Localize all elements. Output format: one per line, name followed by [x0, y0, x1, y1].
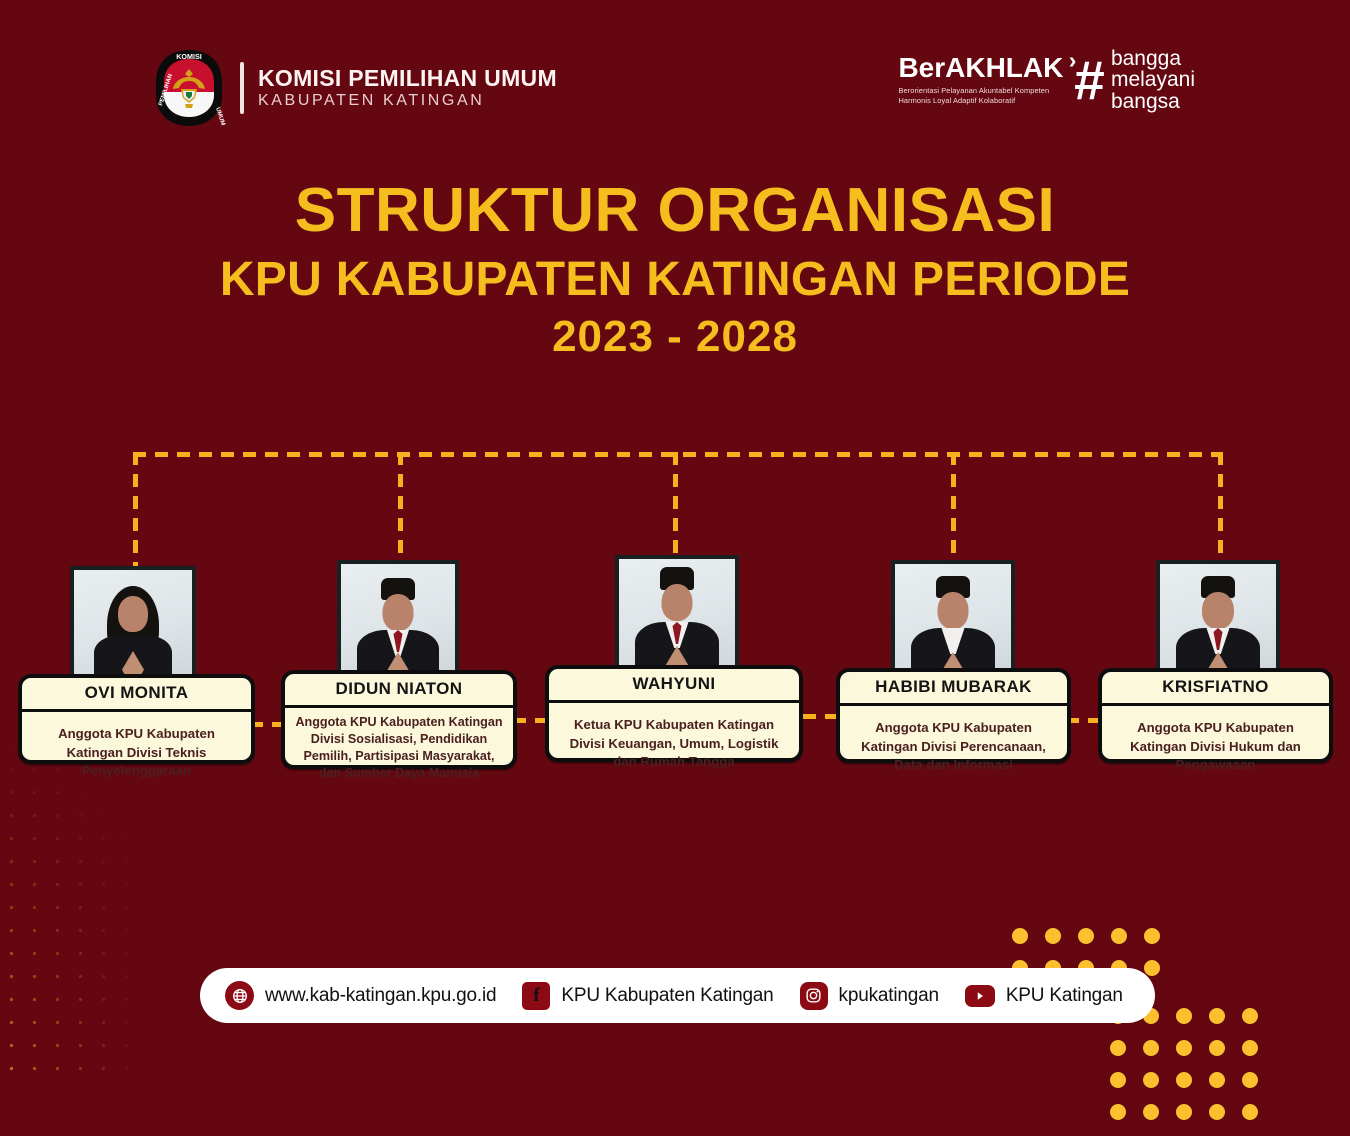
page-title: STRUKTUR ORGANISASI KPU KABUPATEN KATING… — [0, 178, 1350, 363]
member-name-4: HABIBI MUBARAK — [840, 672, 1067, 706]
berakhlak-subtitle: Berorientasi Pelayanan Akuntabel Kompete… — [898, 86, 1063, 106]
instagram-icon — [800, 982, 828, 1010]
footer-website[interactable]: www.kab-katingan.kpu.go.id — [225, 981, 496, 1010]
tagline-line2: melayani — [1111, 69, 1195, 90]
footer-website-label: www.kab-katingan.kpu.go.id — [265, 985, 496, 1007]
member-portrait-2 — [341, 564, 455, 686]
header-divider — [240, 62, 244, 114]
member-card-4[interactable]: HABIBI MUBARAK Anggota KPU Kabupaten Kat… — [836, 668, 1071, 763]
org-name: KOMISI PEMILIHAN UMUM — [258, 67, 557, 90]
footer-instagram[interactable]: kpukatingan — [800, 982, 939, 1010]
hashtag-icon: # — [1073, 57, 1101, 104]
footer-youtube-label: KPU Katingan — [1006, 985, 1123, 1007]
tagline-line3: bangsa — [1111, 91, 1195, 112]
berakhlak-wordmark: BerAKHLAK› — [898, 54, 1063, 82]
member-desc-1: Anggota KPU Kabupaten Katingan Divisi Te… — [22, 712, 251, 794]
member-card-3[interactable]: WAHYUNI Ketua KPU Kabupaten Katingan Div… — [545, 665, 803, 762]
member-desc-5: Anggota KPU Kabupaten Katingan Divisi Hu… — [1102, 706, 1329, 788]
svg-text:UMUM: UMUM — [214, 107, 225, 127]
kpu-logo-icon: KOMISI PEMILIHAN UMUM — [152, 48, 226, 128]
dot-grid-decoration-lower-right — [1110, 1008, 1275, 1136]
member-name-2: DIDUN NIATON — [285, 674, 513, 708]
connector-vertical-3 — [673, 452, 678, 555]
footer-youtube[interactable]: KPU Katingan — [965, 985, 1123, 1007]
berakhlak-sub-line2: Harmonis Loyal Adaptif Kolaboratif — [898, 96, 1063, 106]
footer-facebook-label: KPU Kabupaten Katingan — [561, 985, 773, 1007]
berakhlak-sub-line1: Berorientasi Pelayanan Akuntabel Kompete… — [898, 86, 1063, 96]
connector-vertical-1 — [133, 452, 138, 567]
berakhlak-text-group: BerAKHLAK› Berorientasi Pelayanan Akunta… — [898, 54, 1063, 106]
kpu-title-group: KOMISI PEMILIHAN UMUM KABUPATEN KATINGAN — [258, 67, 557, 109]
member-portrait-1 — [74, 570, 192, 687]
connector-between-card-3-4 — [803, 714, 838, 719]
member-name-3: WAHYUNI — [549, 669, 799, 703]
connector-vertical-5 — [1218, 452, 1223, 560]
connector-horizontal-top — [133, 452, 1223, 457]
member-card-5[interactable]: KRISFIATNO Anggota KPU Kabupaten Katinga… — [1098, 668, 1333, 763]
member-portrait-3 — [619, 559, 735, 682]
member-card-1[interactable]: OVI MONITA Anggota KPU Kabupaten Katinga… — [18, 674, 255, 764]
berakhlak-word-label: BerAKHLAK — [898, 52, 1063, 83]
footer-instagram-label: kpukatingan — [839, 985, 939, 1007]
member-card-2[interactable]: DIDUN NIATON Anggota KPU Kabupaten Katin… — [281, 670, 517, 769]
bangga-melayani-bangsa-tagline: bangga melayani bangsa — [1111, 48, 1195, 112]
member-photo-1 — [70, 566, 196, 691]
connector-between-card-4-5 — [1066, 718, 1102, 723]
svg-text:KOMISI: KOMISI — [176, 52, 202, 61]
globe-icon — [225, 981, 254, 1010]
title-line-3: 2023 - 2028 — [0, 311, 1350, 364]
member-name-5: KRISFIATNO — [1102, 672, 1329, 706]
youtube-icon — [965, 985, 995, 1007]
member-desc-2: Anggota KPU Kabupaten Katingan Divisi So… — [285, 708, 513, 788]
org-region: KABUPATEN KATINGAN — [258, 93, 557, 109]
title-line-1: STRUKTUR ORGANISASI — [0, 178, 1350, 245]
facebook-icon: f — [522, 982, 550, 1010]
connector-vertical-2 — [398, 452, 403, 560]
connector-vertical-4 — [951, 452, 956, 560]
connector-between-card-2-3 — [513, 718, 548, 723]
member-name-1: OVI MONITA — [22, 678, 251, 712]
footer-contact-bar: www.kab-katingan.kpu.go.id f KPU Kabupat… — [200, 968, 1155, 1023]
page-header: KOMISI PEMILIHAN UMUM KOMISI PEMILIHAN U… — [0, 0, 1350, 150]
footer-facebook[interactable]: f KPU Kabupaten Katingan — [522, 982, 773, 1010]
member-desc-3: Ketua KPU Kabupaten Katingan Divisi Keua… — [549, 703, 799, 785]
title-line-2: KPU KABUPATEN KATINGAN PERIODE — [0, 251, 1350, 309]
berakhlak-tick-icon: › — [1069, 49, 1077, 72]
berakhlak-logo: BerAKHLAK› Berorientasi Pelayanan Akunta… — [898, 48, 1195, 112]
tagline-line1: bangga — [1111, 48, 1195, 69]
kpu-branding: KOMISI PEMILIHAN UMUM KOMISI PEMILIHAN U… — [152, 48, 557, 128]
member-desc-4: Anggota KPU Kabupaten Katingan Divisi Pe… — [840, 706, 1067, 788]
